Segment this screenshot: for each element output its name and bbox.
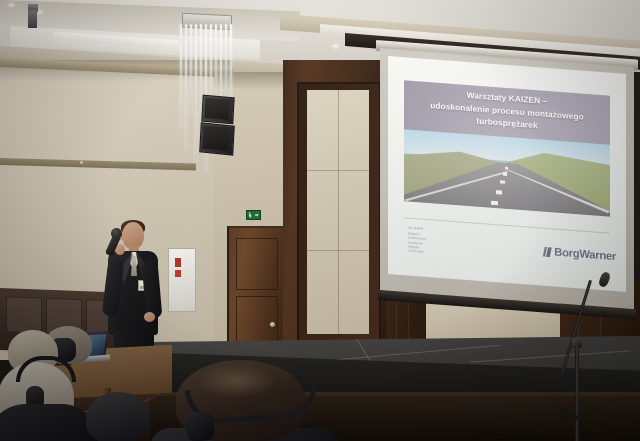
microphone-capsule — [111, 228, 122, 239]
projection-screen-surface: Warsztaty KAIZEN – udoskonalenie procesu… — [388, 56, 626, 292]
borgwarner-logo-icon — [543, 247, 552, 258]
door-panel — [236, 238, 278, 290]
slide-values-list: Our Beliefs Respect Collaboration Excell… — [408, 226, 460, 258]
speaker-grille — [202, 126, 229, 152]
flipchart-marking — [175, 270, 181, 277]
slide-title: Warsztaty KAIZEN – udoskonalenie procesu… — [404, 84, 610, 137]
headphone-earcup — [185, 411, 216, 441]
ceiling-downlight-icon — [8, 3, 15, 7]
audience-member-head — [86, 392, 150, 441]
presentation-slide: Warsztaty KAIZEN – udoskonalenie procesu… — [388, 56, 626, 292]
logo-slash — [545, 247, 548, 257]
mic-stand-pole — [575, 346, 579, 441]
flipchart-marking — [175, 258, 181, 267]
wainscot-panel — [6, 296, 42, 333]
presenter-head — [122, 222, 144, 249]
acoustic-wall-panels — [307, 90, 369, 334]
presenter — [100, 222, 172, 362]
borgwarner-logo: BorgWarner — [543, 246, 616, 264]
wood-wall-frame — [283, 60, 388, 358]
wall-fixture — [80, 161, 83, 164]
wall-speaker-icon — [199, 122, 235, 156]
projection-screen-assembly: Warsztaty KAIZEN – udoskonalenie procesu… — [376, 40, 640, 302]
exit-running-man-icon — [249, 212, 252, 218]
ceiling-downlight-icon — [332, 44, 339, 48]
presenter-hand-right — [144, 312, 155, 322]
slide-photo-road — [404, 129, 610, 216]
door-handle[interactable] — [270, 322, 275, 327]
flipchart-board — [168, 248, 196, 312]
wall-speaker-icon — [201, 95, 234, 125]
speaker-grille — [205, 98, 230, 120]
chandelier-mount-plate — [182, 13, 232, 31]
conference-presentation-photo: Warsztaty KAIZEN – udoskonalenie procesu… — [0, 0, 640, 441]
speaker-bracket — [28, 10, 37, 28]
door[interactable] — [227, 226, 285, 354]
exit-arrow-icon — [255, 214, 259, 217]
exit-sign-icon — [246, 210, 261, 220]
brand-name: BorgWarner — [554, 247, 616, 264]
